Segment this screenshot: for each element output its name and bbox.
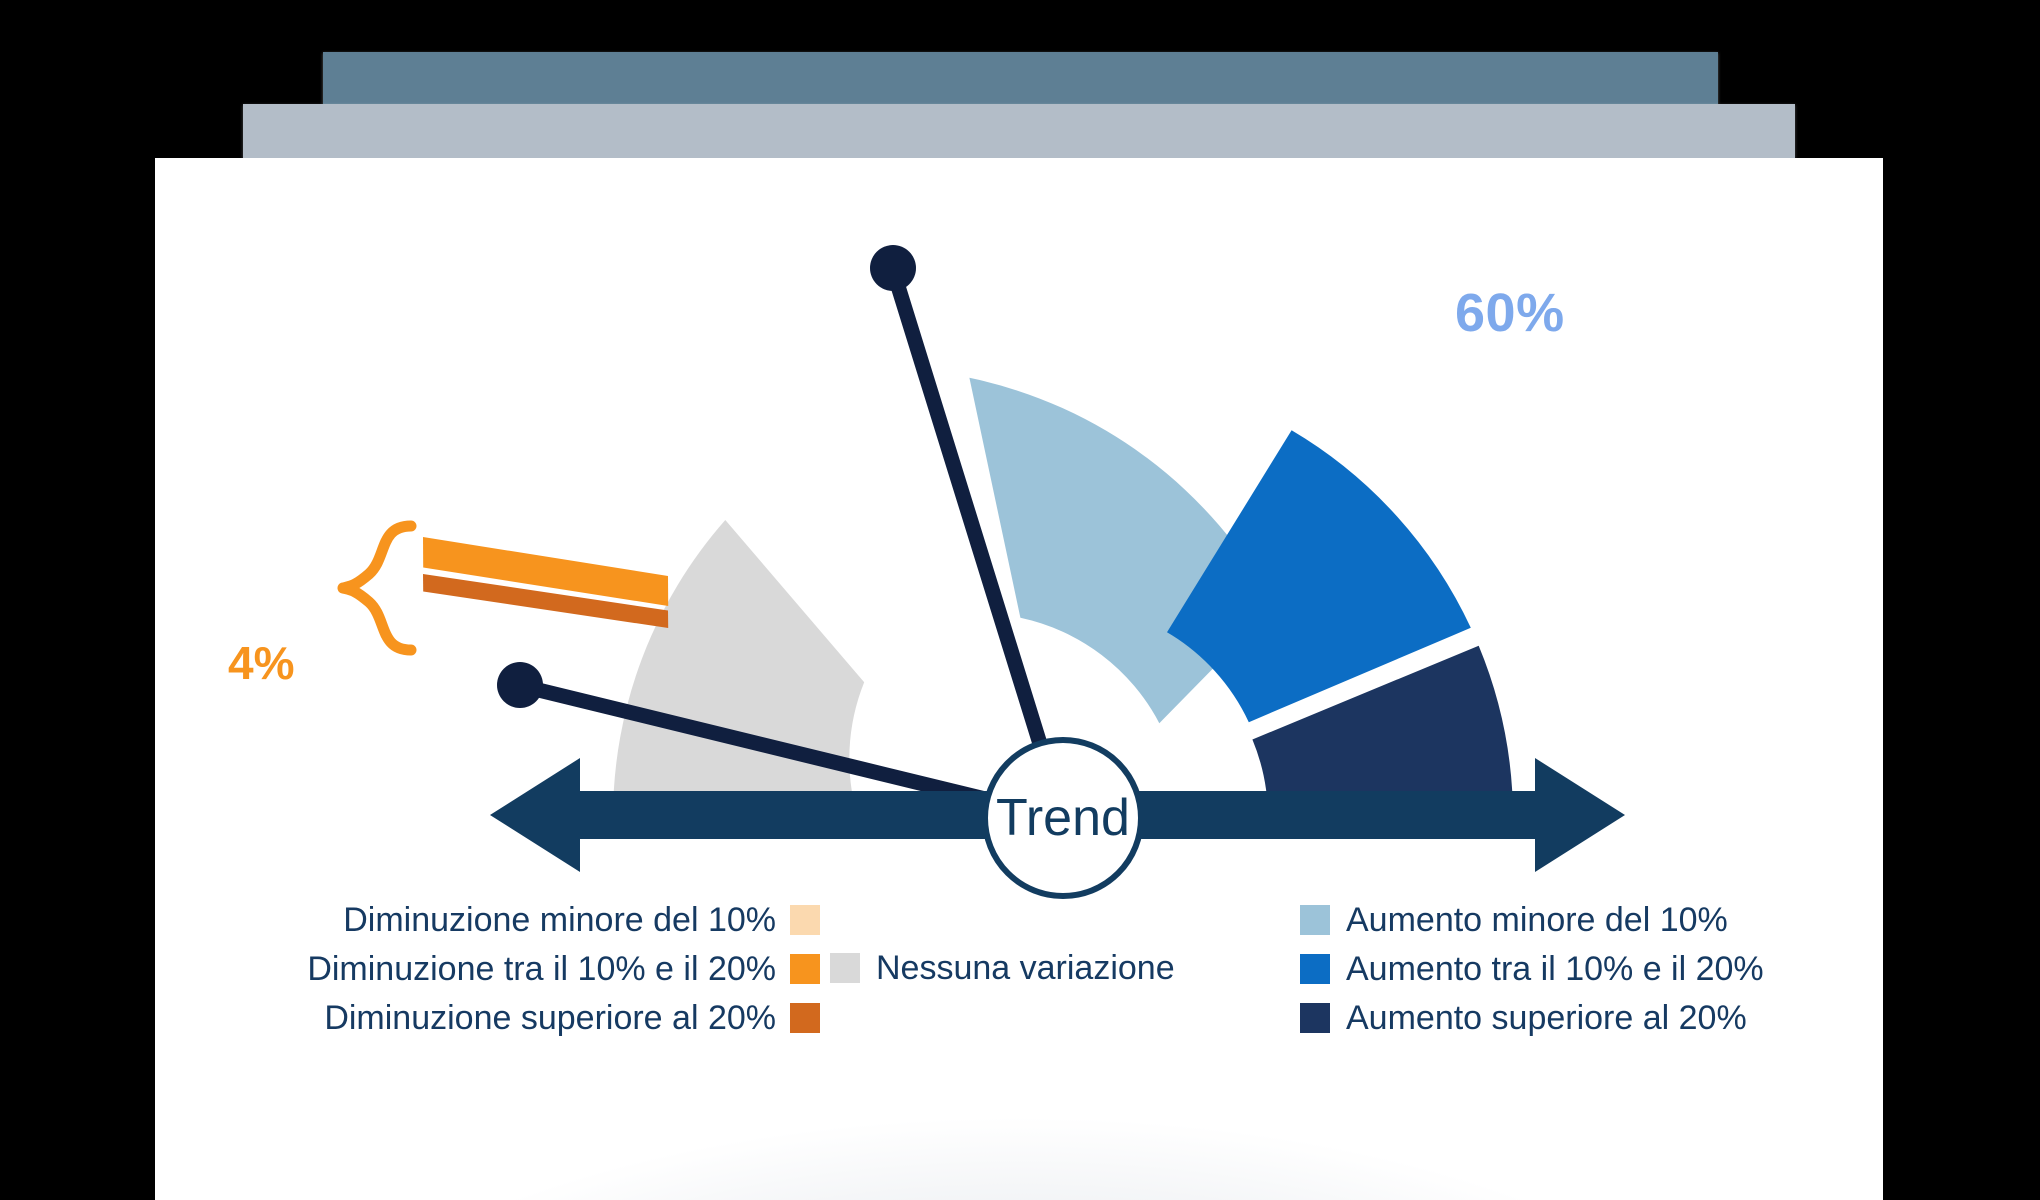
legend-group-increase: Aumento minore del 10% Aumento tra il 10… [1300, 895, 1900, 1042]
legend-item[interactable]: Aumento minore del 10% [1300, 895, 1900, 944]
increase-total-callout: 60% [1455, 282, 1565, 344]
legend-swatch [830, 953, 860, 983]
decorative-title-bar [323, 52, 1718, 104]
legend-item[interactable]: Diminuzione tra il 10% e il 20% [160, 944, 820, 993]
legend-swatch [790, 905, 820, 935]
decorative-subtitle-bar [243, 104, 1795, 158]
legend-swatch [790, 1003, 820, 1033]
legend-group-decrease: Diminuzione minore del 10% Diminuzione t… [160, 895, 820, 1042]
legend-item[interactable]: Aumento tra il 10% e il 20% [1300, 944, 1900, 993]
legend-swatch [1300, 905, 1330, 935]
legend-item-label: Diminuzione superiore al 20% [324, 1001, 776, 1035]
legend-item[interactable]: Diminuzione minore del 10% [160, 895, 820, 944]
screenshot-root: Trend 60% 4% Diminuzione minore del 10% … [0, 0, 2040, 1200]
legend-swatch [1300, 1003, 1330, 1033]
legend-swatch [790, 954, 820, 984]
needle-increase-knob [870, 245, 916, 291]
legend-item[interactable]: Diminuzione superiore al 20% [160, 993, 820, 1042]
legend-item[interactable]: Aumento superiore al 20% [1300, 993, 1900, 1042]
legend-item-label: Nessuna variazione [876, 951, 1175, 985]
legend-item[interactable]: Nessuna variazione [830, 943, 1250, 992]
legend-item-label: Diminuzione minore del 10% [343, 903, 776, 937]
chart-legend: Diminuzione minore del 10% Diminuzione t… [0, 895, 2040, 1095]
legend-swatch [1300, 954, 1330, 984]
legend-item-label: Aumento tra il 10% e il 20% [1346, 952, 1764, 986]
legend-item-label: Aumento superiore al 20% [1346, 1001, 1747, 1035]
segment-nessuna-variazione [613, 520, 864, 818]
legend-group-nochange: Nessuna variazione [830, 943, 1250, 992]
decrease-brace-icon [343, 526, 411, 650]
needle-decrease-knob [497, 662, 543, 708]
decrease-total-callout: 4% [228, 636, 294, 690]
legend-item-label: Diminuzione tra il 10% e il 20% [307, 952, 776, 986]
legend-item-label: Aumento minore del 10% [1346, 903, 1728, 937]
trend-center-label: Trend [996, 789, 1130, 847]
